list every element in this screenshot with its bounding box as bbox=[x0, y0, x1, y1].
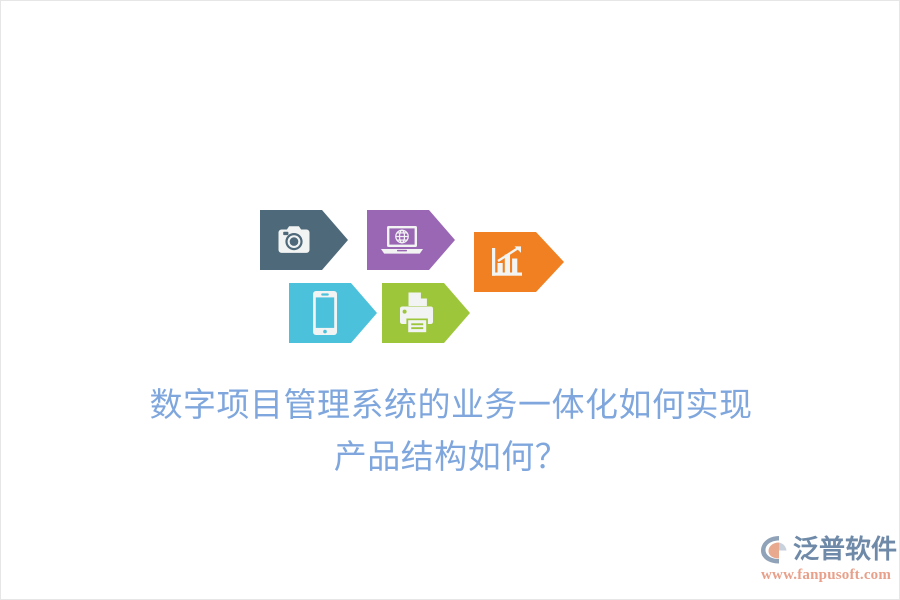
title-line-1: 数字项目管理系统的业务一体化如何实现 bbox=[1, 387, 900, 425]
printer-icon bbox=[400, 293, 433, 334]
chevron-smartphone bbox=[289, 283, 377, 343]
chevron-bar-chart bbox=[474, 232, 564, 292]
smartphone-icon bbox=[313, 291, 337, 335]
watermark-logo: 泛普软件 www.fanpusoft.com bbox=[759, 529, 891, 591]
slide-title: 数字项目管理系统的业务一体化如何实现 产品结构如何？ bbox=[1, 387, 900, 478]
slide-canvas: 数字项目管理系统的业务一体化如何实现 产品结构如何？ 泛普软件 www.fanp… bbox=[0, 0, 900, 600]
chevron-camera bbox=[260, 210, 348, 270]
bar-chart-icon bbox=[492, 246, 522, 275]
five-chevron-icon-diagram bbox=[1, 1, 900, 600]
logo-row: 泛普软件 bbox=[759, 531, 897, 567]
chevron-printer bbox=[382, 283, 470, 343]
camera-icon bbox=[279, 226, 310, 253]
fanpu-swoosh-icon bbox=[759, 534, 791, 565]
logo-brand-text: 泛普软件 bbox=[793, 536, 897, 562]
laptop-globe-icon bbox=[381, 226, 423, 254]
title-line-2: 产品结构如何？ bbox=[1, 439, 900, 477]
chevron-laptop bbox=[367, 210, 455, 270]
logo-url-text: www.fanpusoft.com bbox=[761, 567, 891, 584]
